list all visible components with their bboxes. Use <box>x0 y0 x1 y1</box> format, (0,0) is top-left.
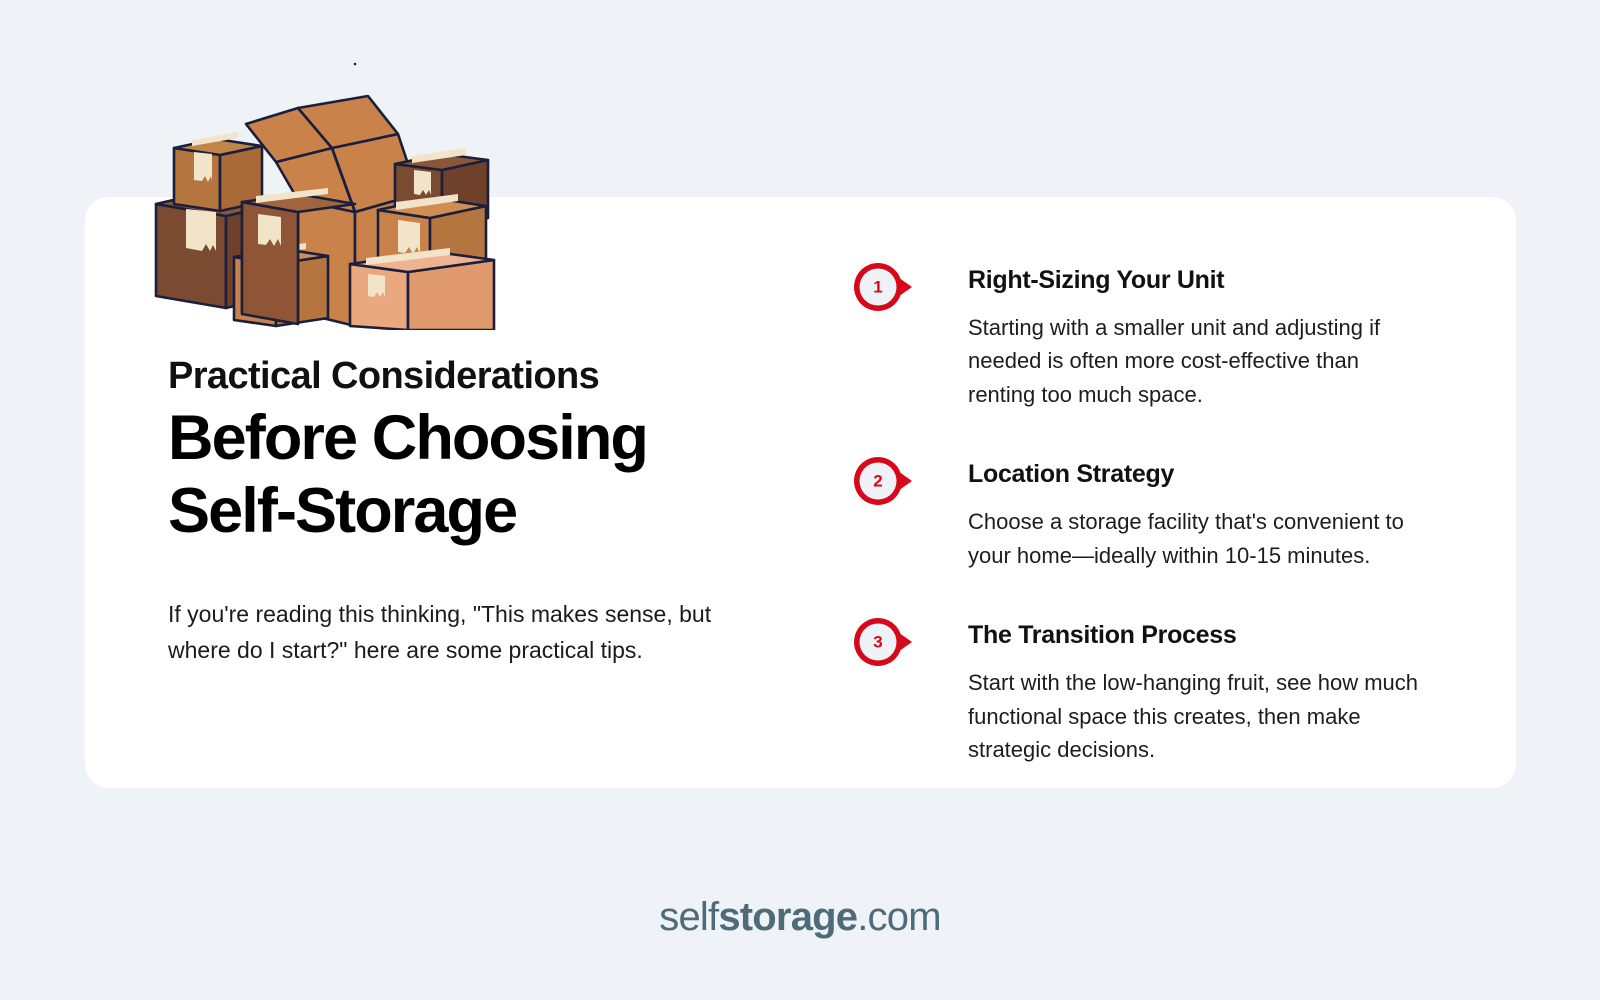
page-title: Before Choosing Self-Storage <box>168 402 788 549</box>
headline-line-1: Before Choosing <box>168 403 647 473</box>
number-badge-arrow-icon: 1 <box>852 261 924 313</box>
logo-part-self: self <box>659 895 718 939</box>
logo-part-dotcom: .com <box>857 895 940 939</box>
list-item-title: Location Strategy <box>968 459 1452 489</box>
intro-paragraph: If you're reading this thinking, "This m… <box>168 597 748 668</box>
number-badge-arrow-icon: 3 <box>852 616 924 668</box>
eyebrow-heading: Practical Considerations <box>168 355 788 398</box>
list-item: 3 The Transition Process Start with the … <box>852 610 1452 766</box>
number-badge-arrow-icon: 2 <box>852 455 924 507</box>
badge-number: 1 <box>873 278 882 297</box>
infographic-root: Practical Considerations Before Choosing… <box>0 0 1600 1000</box>
badge-number: 2 <box>873 472 882 491</box>
stacked-boxes-illustration <box>150 52 590 330</box>
badge-number: 3 <box>873 633 882 652</box>
box-left-top <box>174 132 262 211</box>
list-item-description: Starting with a smaller unit and adjusti… <box>968 311 1420 411</box>
tips-list: 1 Right-Sizing Your Unit Starting with a… <box>852 255 1452 767</box>
list-item-body: Right-Sizing Your Unit Starting with a s… <box>924 255 1452 411</box>
list-item-title: Right-Sizing Your Unit <box>968 265 1452 295</box>
list-item-description: Start with the low-hanging fruit, see ho… <box>968 666 1420 766</box>
box-right-bottom-tan <box>350 248 494 330</box>
list-item-title: The Transition Process <box>968 620 1452 650</box>
list-item-body: The Transition Process Start with the lo… <box>924 610 1452 766</box>
list-item: 2 Location Strategy Choose a storage fac… <box>852 449 1452 572</box>
logo-part-storage: storage <box>718 895 857 939</box>
list-item: 1 Right-Sizing Your Unit Starting with a… <box>852 255 1452 411</box>
left-text-column: Practical Considerations Before Choosing… <box>168 355 788 668</box>
list-item-description: Choose a storage facility that's conveni… <box>968 505 1420 572</box>
list-item-body: Location Strategy Choose a storage facil… <box>924 449 1452 572</box>
brand-logo: selfstorage.com <box>0 895 1600 940</box>
headline-line-2: Self-Storage <box>168 476 516 546</box>
